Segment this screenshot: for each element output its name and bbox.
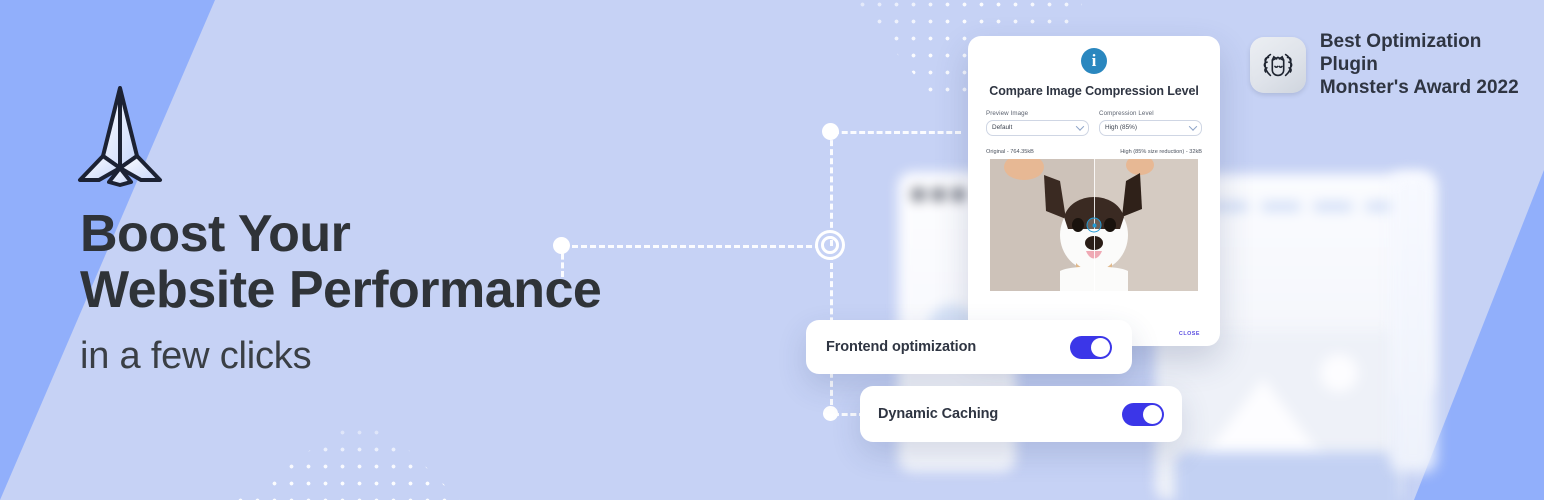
background-mockup-bottom: [1175, 452, 1401, 500]
preview-image-label: Preview Image: [986, 110, 1089, 117]
close-button[interactable]: CLOSE: [1179, 331, 1200, 337]
window-dots-icon: [912, 188, 965, 201]
page-title: Boost Your Website Performance: [80, 206, 601, 318]
compression-level-field: Compression Level High (85%): [1099, 110, 1202, 136]
laurel-wreath-cat-badge-icon: [1250, 37, 1306, 93]
connector-line-vertical: [830, 131, 833, 246]
hero-banner: Boost Your Website Performance in a few …: [0, 0, 1544, 500]
paper-rocket-icon: [74, 84, 166, 188]
award-label: Best Optimization Plugin Monster's Award…: [1320, 30, 1544, 99]
compare-slider-handle-icon[interactable]: [1087, 218, 1102, 233]
background-mockup-tall: [1390, 172, 1436, 472]
compression-level-select[interactable]: High (85%): [1099, 120, 1202, 136]
frontend-optimization-card[interactable]: Frontend optimization: [806, 320, 1132, 374]
compression-modal[interactable]: i Compare Image Compression Level Previe…: [968, 36, 1220, 346]
mockup-nav-pills: [1209, 202, 1405, 211]
compare-compressed-label: High (85% size reduction) - 32kB: [1120, 149, 1202, 155]
page-subtitle: in a few clicks: [80, 334, 311, 378]
award-badge: Best Optimization Plugin Monster's Award…: [1250, 30, 1544, 99]
compression-level-value: High (85%): [1105, 124, 1137, 131]
headline-line-2: Website Performance: [80, 262, 601, 318]
frontend-optimization-label: Frontend optimization: [826, 339, 976, 355]
compare-image[interactable]: [990, 159, 1198, 291]
dynamic-caching-toggle[interactable]: [1122, 403, 1164, 426]
connector-node-junction: [821, 236, 839, 254]
connector-line-middle: [563, 245, 821, 248]
preview-image-field: Preview Image Default: [986, 110, 1089, 136]
connector-node-bottom: [823, 406, 838, 421]
dynamic-caching-label: Dynamic Caching: [878, 406, 998, 422]
info-circle-icon: i: [1081, 48, 1107, 74]
preview-image-select[interactable]: Default: [986, 120, 1089, 136]
headline-line-1: Boost Your: [80, 206, 601, 262]
chevron-down-icon: [1189, 122, 1197, 130]
compare-labels: Original - 764.35kB High (85% size reduc…: [986, 149, 1202, 155]
modal-fields: Preview Image Default Compression Level …: [986, 110, 1202, 136]
chevron-down-icon: [1076, 122, 1084, 130]
modal-title: Compare Image Compression Level: [968, 84, 1220, 98]
connector-line-top: [833, 131, 961, 134]
compression-level-label: Compression Level: [1099, 110, 1202, 117]
preview-image-value: Default: [992, 124, 1012, 131]
connector-node-top: [822, 123, 839, 140]
dynamic-caching-card[interactable]: Dynamic Caching: [860, 386, 1182, 442]
compare-original-label: Original - 764.35kB: [986, 149, 1034, 155]
frontend-optimization-toggle[interactable]: [1070, 336, 1112, 359]
